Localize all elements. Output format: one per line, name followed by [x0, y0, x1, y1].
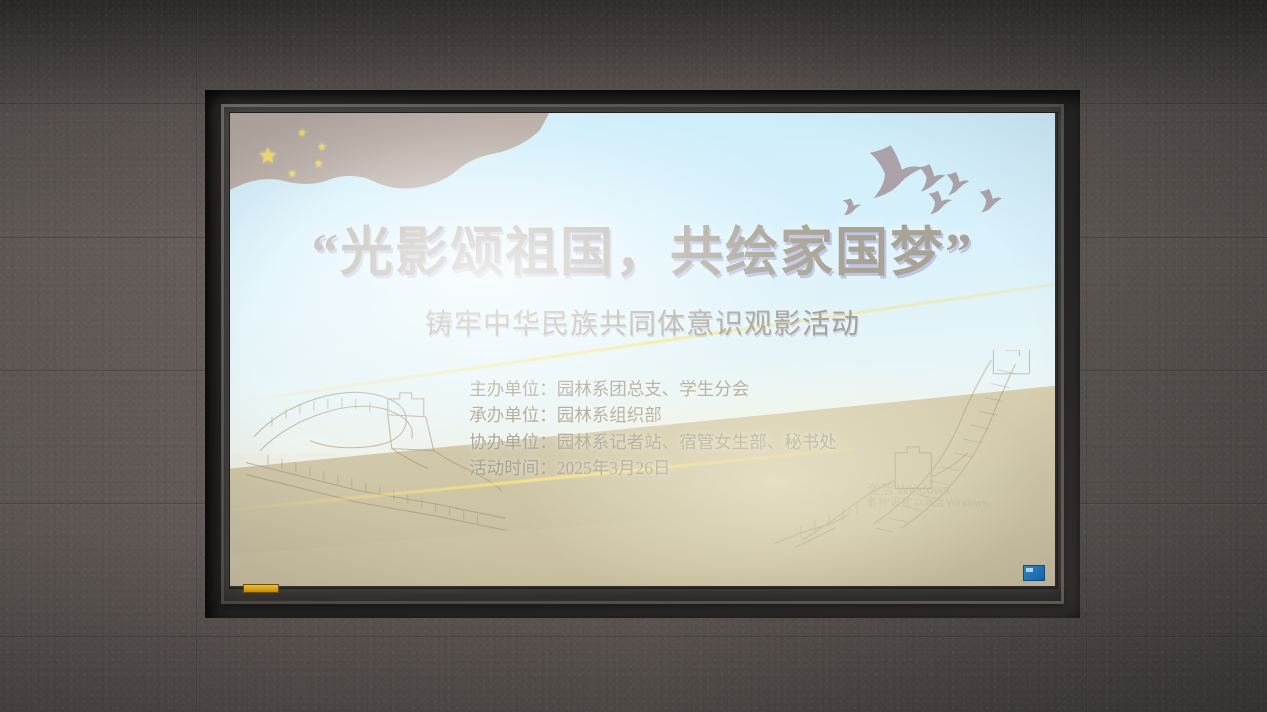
wall-seam [1086, 0, 1088, 712]
wall-seam [196, 0, 198, 712]
wall-seam [0, 636, 1267, 638]
screen-edge-outline [229, 112, 1058, 589]
bezel-amber-label [243, 584, 279, 593]
room-scene: ★ ★ ★ ★ ★ [0, 0, 1267, 712]
